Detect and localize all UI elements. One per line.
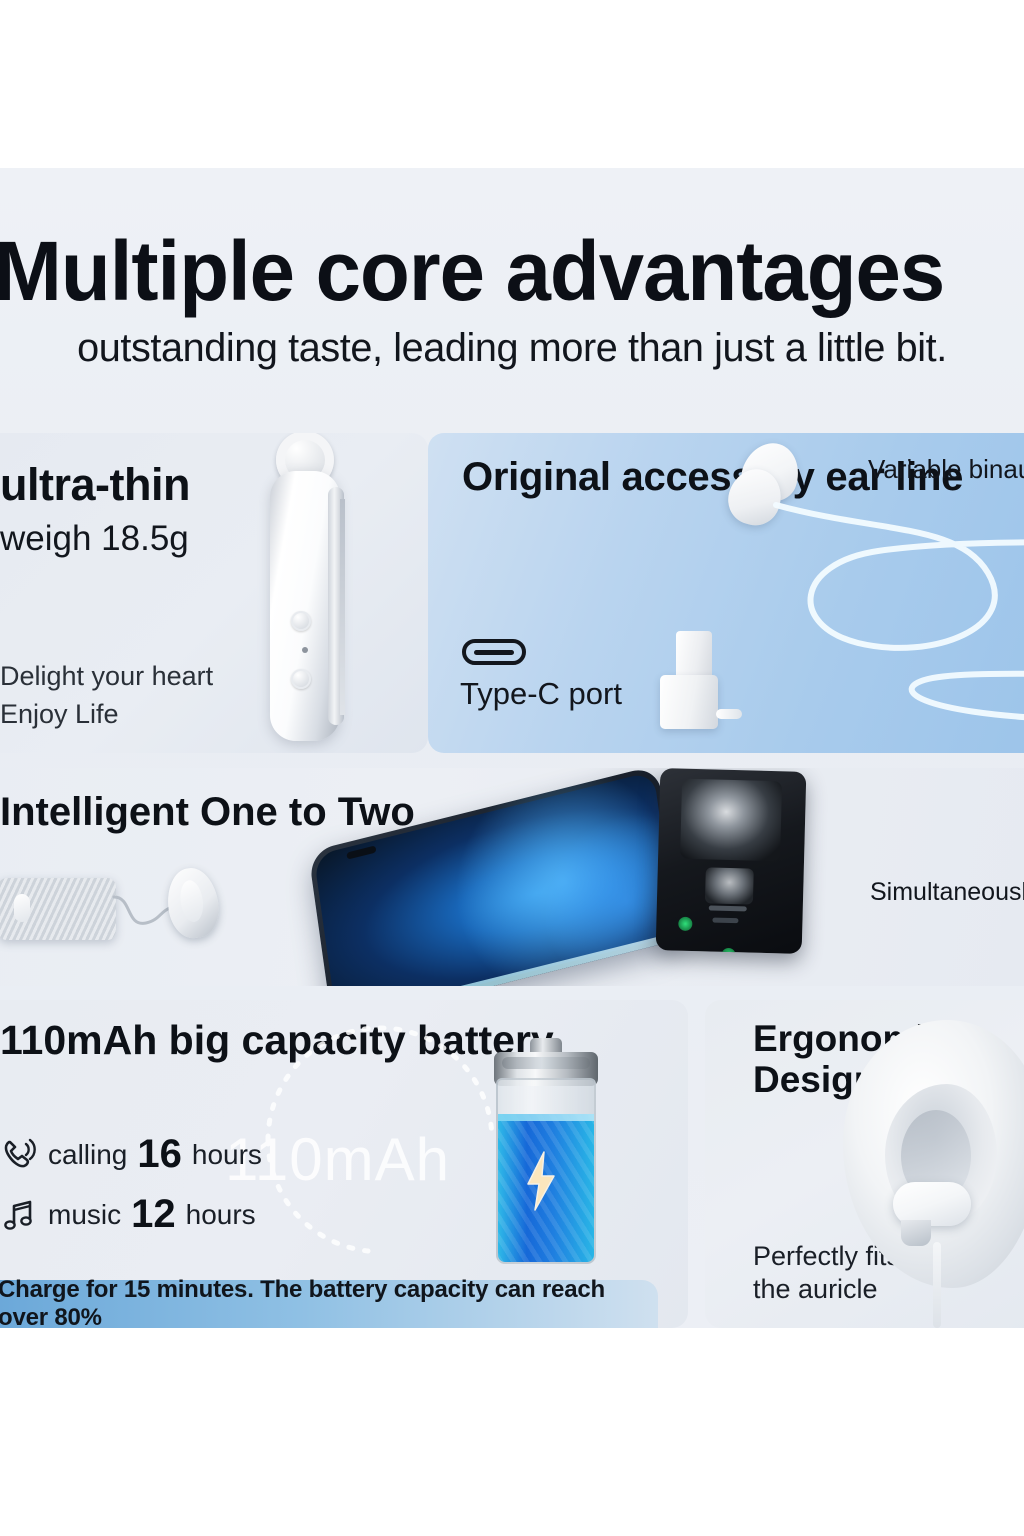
card-ear-line: Original accessory ear line Type-C port …	[428, 433, 1024, 753]
page-title: Multiple core advantages	[0, 230, 993, 312]
type-c-port-icon	[462, 639, 526, 665]
fast-charge-banner: Charge for 15 minutes. The battery capac…	[0, 1280, 658, 1328]
device-led-green-3	[765, 953, 779, 954]
battery-spec-calling-unit: hours	[192, 1139, 262, 1171]
ear-icon	[815, 1014, 1024, 1314]
ultra-thin-tagline-2: Enjoy Life	[0, 699, 119, 730]
dark-device-icon	[656, 768, 807, 954]
headset-clip-edge	[340, 499, 345, 715]
plug-top	[676, 631, 712, 677]
music-note-icon	[0, 1196, 38, 1234]
poster-canvas: Multiple core advantages outstanding tas…	[0, 168, 1024, 1328]
ultra-thin-title: ultra-thin	[0, 459, 190, 511]
device-screen-image	[680, 779, 782, 862]
earbud-wire	[933, 1242, 941, 1328]
battery-spec-calling-label: calling	[48, 1139, 127, 1171]
plug-connector-tip	[716, 709, 742, 719]
earbud-stem	[901, 1220, 931, 1246]
card-battery: 110mAh big capacity battery 110mAh calli…	[0, 1000, 688, 1328]
card-one-to-two: Intelligent One to Two Simultaneously su…	[0, 768, 1024, 986]
headset-indicator-dot	[302, 647, 308, 653]
card-ultra-thin: ultra-thin weigh 18.5g Delight your hear…	[0, 433, 428, 753]
ultra-thin-weight: weigh 18.5g	[0, 519, 189, 559]
battery-spec-calling-value: 16	[137, 1132, 182, 1177]
battery-spec-music-unit: hours	[186, 1199, 256, 1231]
battery-spec-calling: calling 16 hours	[0, 1132, 262, 1177]
type-c-plug-icon	[660, 631, 722, 729]
ear-line-cable-icon	[758, 493, 1024, 743]
fast-charge-banner-text: Charge for 15 minutes. The battery capac…	[0, 1276, 658, 1328]
battery-spec-music-label: music	[48, 1199, 121, 1231]
ultra-thin-tagline-1: Delight your heart	[0, 661, 213, 692]
poster-page: Multiple core advantages outstanding tas…	[0, 0, 1024, 1536]
device-led-green-2	[721, 948, 735, 954]
headset-button-power	[291, 669, 311, 689]
speaker-button	[14, 894, 30, 922]
battery-spec-music: music 12 hours	[0, 1192, 256, 1237]
plug-body	[660, 675, 718, 729]
device-app-icon	[705, 867, 754, 904]
two-devices-note: Simultaneously supporting 2 devices	[870, 876, 1024, 910]
phone-call-icon	[0, 1136, 38, 1174]
lightning-bolt-icon	[524, 1150, 558, 1212]
headset-button-up	[291, 611, 311, 631]
battery-charging-icon	[490, 1038, 602, 1266]
card-ergonomic-design: Ergonomic Design Perfectly fits the auri…	[705, 1000, 1024, 1328]
device-text-line-2	[712, 918, 738, 924]
device-led-green-1	[678, 917, 692, 931]
one-to-two-title: Intelligent One to Two	[0, 790, 415, 834]
page-subtitle: outstanding taste, leading more than jus…	[5, 326, 1019, 371]
type-c-port-label: Type-C port	[460, 676, 622, 712]
poster-header: Multiple core advantages outstanding tas…	[0, 230, 1024, 371]
device-text-line-1	[709, 905, 747, 911]
bluetooth-headset-icon	[258, 433, 378, 753]
battery-spec-music-value: 12	[131, 1192, 176, 1237]
binaural-stereo-note: Variable binaural stereo	[868, 453, 1024, 487]
